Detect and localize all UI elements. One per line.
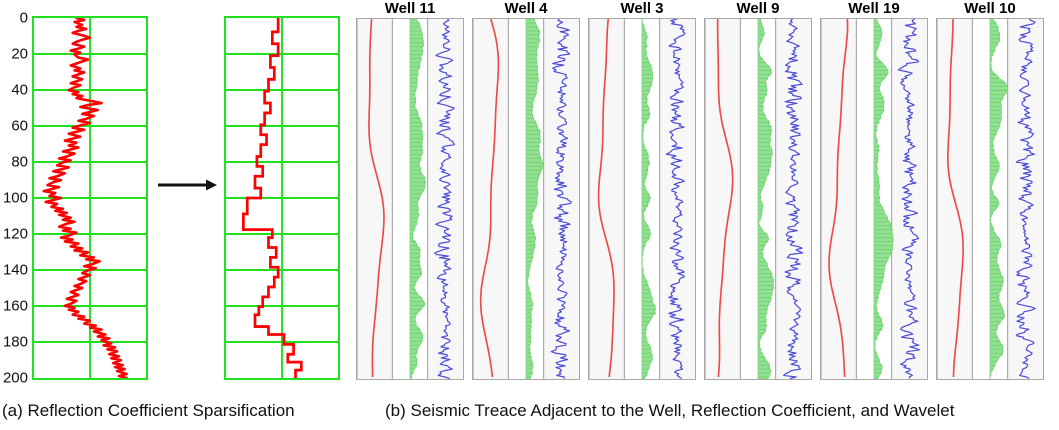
axis-tick-label: 140 [3, 262, 28, 279]
well-panel[interactable]: Well 11 [356, 18, 464, 380]
well-track-container [356, 18, 464, 380]
well-title: Well 9 [704, 0, 812, 17]
figure-root: 020406080100120140160180200 [0, 0, 1059, 430]
well-tracks-svg [705, 19, 811, 379]
axis-tick-label: 100 [3, 190, 28, 207]
axis-tick-label: 60 [11, 118, 28, 135]
well-tracks-svg [937, 19, 1043, 379]
axis-tick-label: 200 [3, 370, 28, 387]
well-track-container [588, 18, 696, 380]
caption-panel-b: (b) Seismic Treace Adjacent to the Well,… [385, 401, 954, 421]
well-title: Well 4 [472, 0, 580, 17]
well-panel[interactable]: Well 4 [472, 18, 580, 380]
axis-tick-label: 180 [3, 334, 28, 351]
well-track-container [472, 18, 580, 380]
well-tracks-svg [821, 19, 927, 379]
well-panel[interactable]: Well 19 [820, 18, 928, 380]
well-panel[interactable]: Well 9 [704, 18, 812, 380]
caption-panel-a: (a) Reflection Coefficient Sparsificatio… [2, 401, 295, 421]
well-panel[interactable]: Well 10 [936, 18, 1044, 380]
panel-a-sparsification: 020406080100120140160180200 [0, 0, 350, 430]
arrow-svg [156, 176, 218, 194]
raw-log-svg [34, 18, 146, 378]
well-title: Well 11 [356, 0, 464, 17]
sparse-log-svg [226, 18, 338, 378]
axis-tick-label: 40 [11, 82, 28, 99]
raw-reflection-coefficient-track [32, 16, 148, 380]
well-track-container [820, 18, 928, 380]
axis-tick-label: 0 [20, 10, 28, 27]
well-tracks-svg [589, 19, 695, 379]
sparse-grid [226, 18, 338, 378]
well-title: Well 10 [936, 0, 1044, 17]
well-tracks-svg [473, 19, 579, 379]
depth-axis: 020406080100120140160180200 [0, 0, 28, 390]
axis-tick-label: 20 [11, 46, 28, 63]
panel-b-well-traces: (b) Seismic Treace Adjacent to the Well,… [350, 0, 1059, 430]
well-tracks-svg [357, 19, 463, 379]
transform-arrow [156, 176, 218, 194]
axis-tick-label: 160 [3, 298, 28, 315]
well-title: Well 3 [588, 0, 696, 17]
well-panel[interactable]: Well 3 [588, 18, 696, 380]
well-title: Well 19 [820, 0, 928, 17]
axis-tick-label: 120 [3, 226, 28, 243]
axis-tick-label: 80 [11, 154, 28, 171]
well-track-container [704, 18, 812, 380]
well-track-container [936, 18, 1044, 380]
sparse-reflection-coefficient-track [224, 16, 340, 380]
